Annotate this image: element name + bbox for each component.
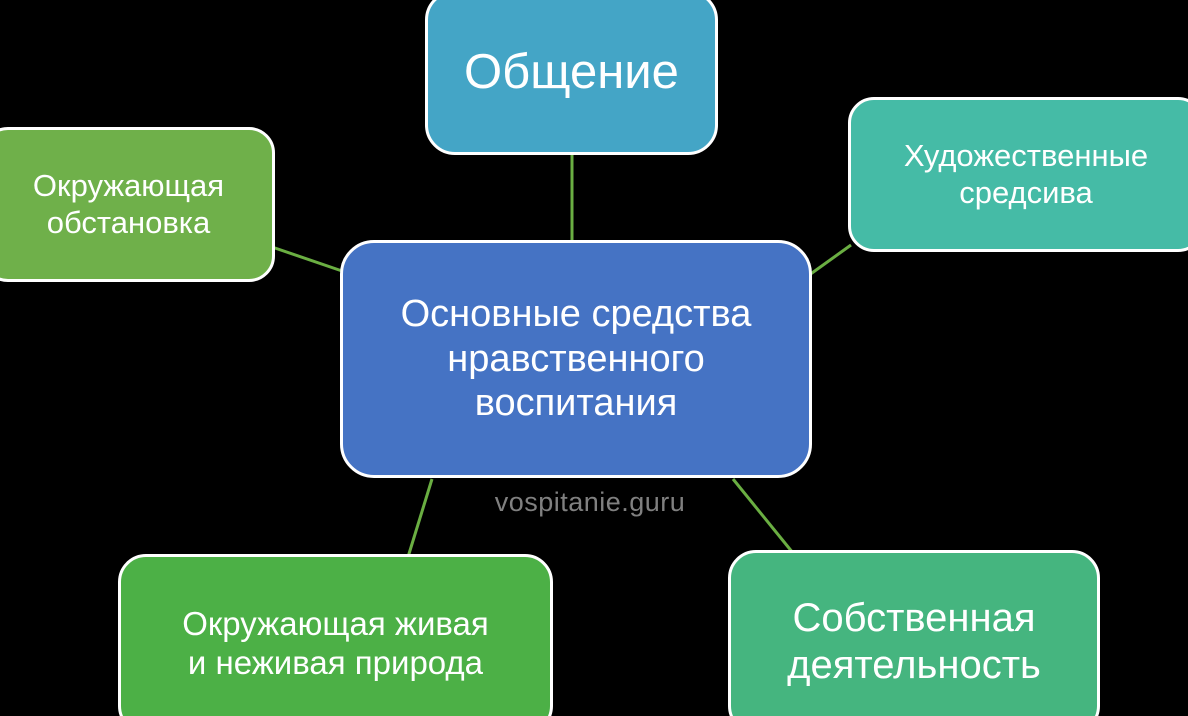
node-hudozhestvennye-sredsiva[interactable]: Художественные средсива: [848, 97, 1188, 252]
node-obshchenie[interactable]: Общение: [425, 0, 718, 155]
node-okruzhayushchaya-obstanovka[interactable]: Окружающая обстановка: [0, 127, 275, 282]
edge-center-to-bottomright: [733, 479, 793, 553]
edge-center-to-left: [272, 247, 345, 272]
node-central-osnovnye-sredstva[interactable]: Основные средства нравственного воспитан…: [340, 240, 812, 478]
node-sobstvennaya-deyatelnost[interactable]: Собственная деятельность: [728, 550, 1100, 716]
node-okruzhayushchaya-priroda[interactable]: Окружающая живая и неживая природа: [118, 554, 553, 716]
watermark-text: vospitanie.guru: [470, 487, 710, 518]
edge-center-to-bottomleft: [408, 479, 432, 557]
diagram-canvas: Общение Художественные средсива Окружающ…: [0, 0, 1188, 716]
